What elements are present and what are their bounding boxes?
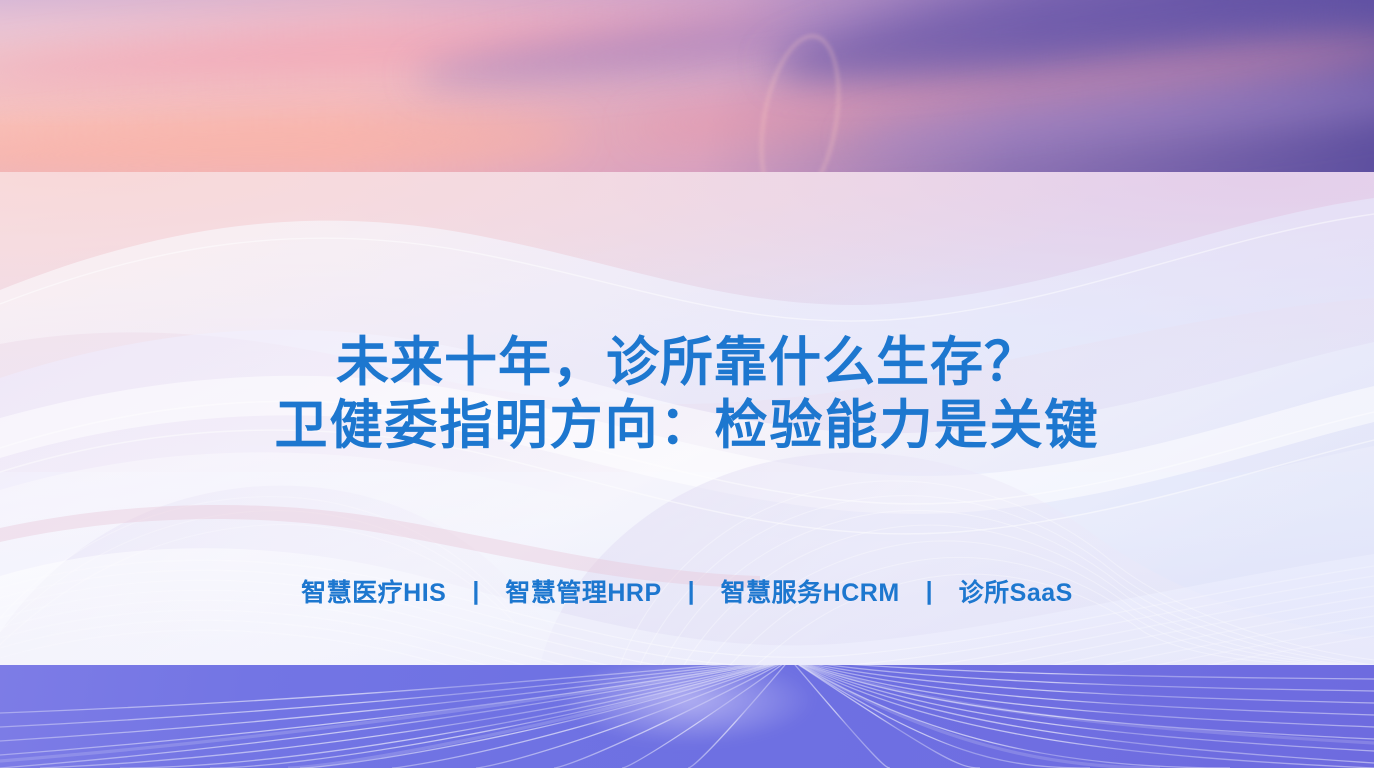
headline-line-2: 卫健委指明方向：检验能力是关键 [0, 395, 1374, 458]
tagline-item-his: 智慧医疗HIS [275, 573, 472, 609]
tagline-item-hrp: 智慧管理HRP [479, 573, 687, 609]
tagline-item-hcrm: 智慧服务HCRM [695, 573, 926, 609]
product-tagline: 智慧医疗HIS | 智慧管理HRP | 智慧服务HCRM | 诊所SaaS [0, 573, 1374, 609]
tagline-separator-2: | [688, 577, 695, 606]
content-layer: 未来十年，诊所靠什么生存？ 卫健委指明方向：检验能力是关键 智慧医疗HIS | … [0, 0, 1374, 768]
banner-canvas: 未来十年，诊所靠什么生存？ 卫健委指明方向：检验能力是关键 智慧医疗HIS | … [0, 0, 1374, 768]
tagline-separator-1: | [472, 577, 479, 606]
headline-line-1: 未来十年，诊所靠什么生存？ [0, 332, 1374, 395]
tagline-item-saas: 诊所SaaS [933, 573, 1099, 609]
page-title: 未来十年，诊所靠什么生存？ 卫健委指明方向：检验能力是关键 [0, 332, 1374, 457]
tagline-separator-3: | [926, 577, 933, 606]
